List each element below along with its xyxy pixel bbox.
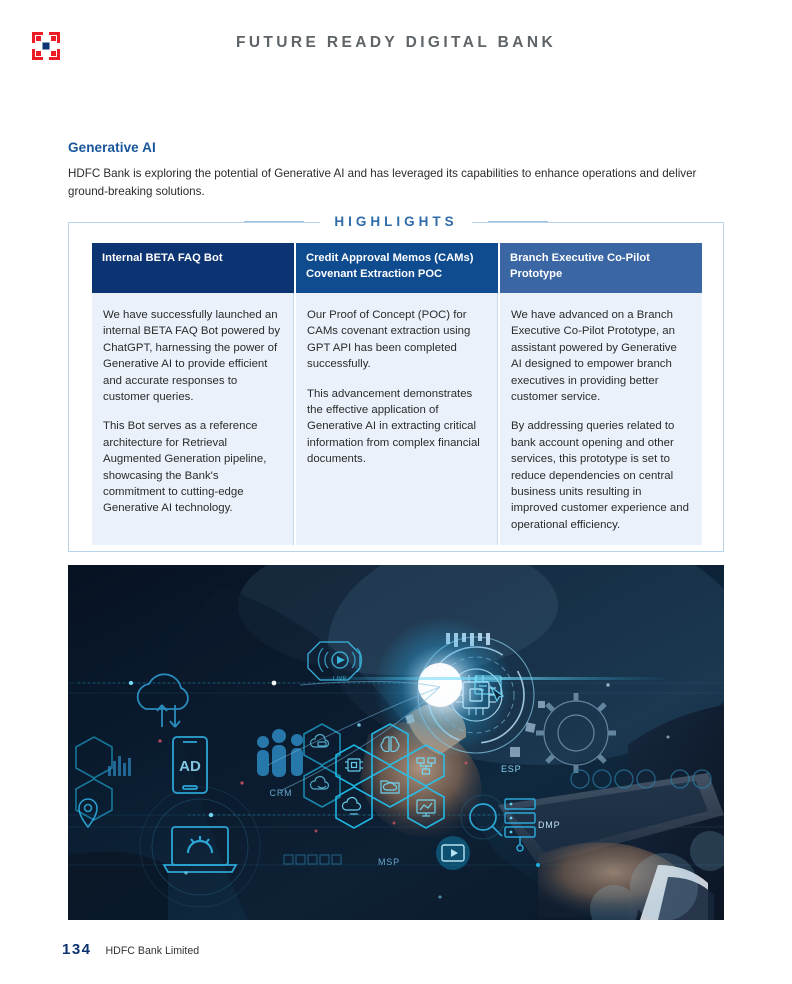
highlight-card-paragraph: Our Proof of Concept (POC) for CAMs cove…: [307, 307, 485, 373]
highlight-card: Branch Executive Co-Pilot Prototype We h…: [500, 243, 702, 545]
highlight-card: Credit Approval Memos (CAMs) Covenant Ex…: [296, 243, 498, 545]
svg-text:MSP: MSP: [378, 857, 400, 867]
footer-page-number: 134: [62, 941, 92, 958]
page-header: FUTURE READY DIGITAL BANK: [0, 0, 792, 92]
page-footer: 134 HDFC Bank Limited: [62, 941, 199, 958]
highlight-card: Internal BETA FAQ Bot We have successful…: [92, 243, 294, 545]
svg-text:CRM: CRM: [270, 788, 293, 798]
highlight-card-paragraph: By addressing queries related to bank ac…: [511, 418, 690, 533]
svg-text:ESP: ESP: [501, 764, 521, 774]
highlights-card-list: Internal BETA FAQ Bot We have successful…: [92, 243, 704, 545]
svg-text:DMP: DMP: [538, 820, 560, 830]
highlight-card-body: Our Proof of Concept (POC) for CAMs cove…: [296, 293, 498, 545]
highlight-card-title: Credit Approval Memos (CAMs) Covenant Ex…: [296, 243, 498, 293]
footer-entity-name: HDFC Bank Limited: [106, 945, 200, 957]
highlights-label-row: HIGHLIGHTS: [68, 208, 724, 234]
highlight-card-paragraph: This Bot serves as a reference architect…: [103, 418, 281, 516]
highlights-rule-right: [488, 221, 548, 222]
highlight-card-body: We have advanced on a Branch Executive C…: [500, 293, 702, 545]
highlight-card-body: We have successfully launched an interna…: [92, 293, 294, 545]
highlights-label: HIGHLIGHTS: [320, 214, 471, 229]
highlight-card-paragraph: We have advanced on a Branch Executive C…: [511, 307, 690, 405]
section-intro-paragraph: HDFC Bank is exploring the potential of …: [68, 165, 718, 200]
svg-text:AD: AD: [179, 758, 201, 775]
highlight-card-title: Branch Executive Co-Pilot Prototype: [500, 243, 702, 293]
digital-technology-hero-image: LIVE AD CRM: [68, 565, 724, 920]
page-title: FUTURE READY DIGITAL BANK: [0, 34, 792, 52]
highlights-rule-left: [244, 221, 304, 222]
highlight-card-paragraph: We have successfully launched an interna…: [103, 307, 281, 405]
highlight-card-title: Internal BETA FAQ Bot: [92, 243, 294, 293]
section-heading-generative-ai: Generative AI: [68, 140, 156, 155]
highlight-card-paragraph: This advancement demonstrates the effect…: [307, 386, 485, 468]
svg-text:LIVE: LIVE: [333, 676, 347, 682]
